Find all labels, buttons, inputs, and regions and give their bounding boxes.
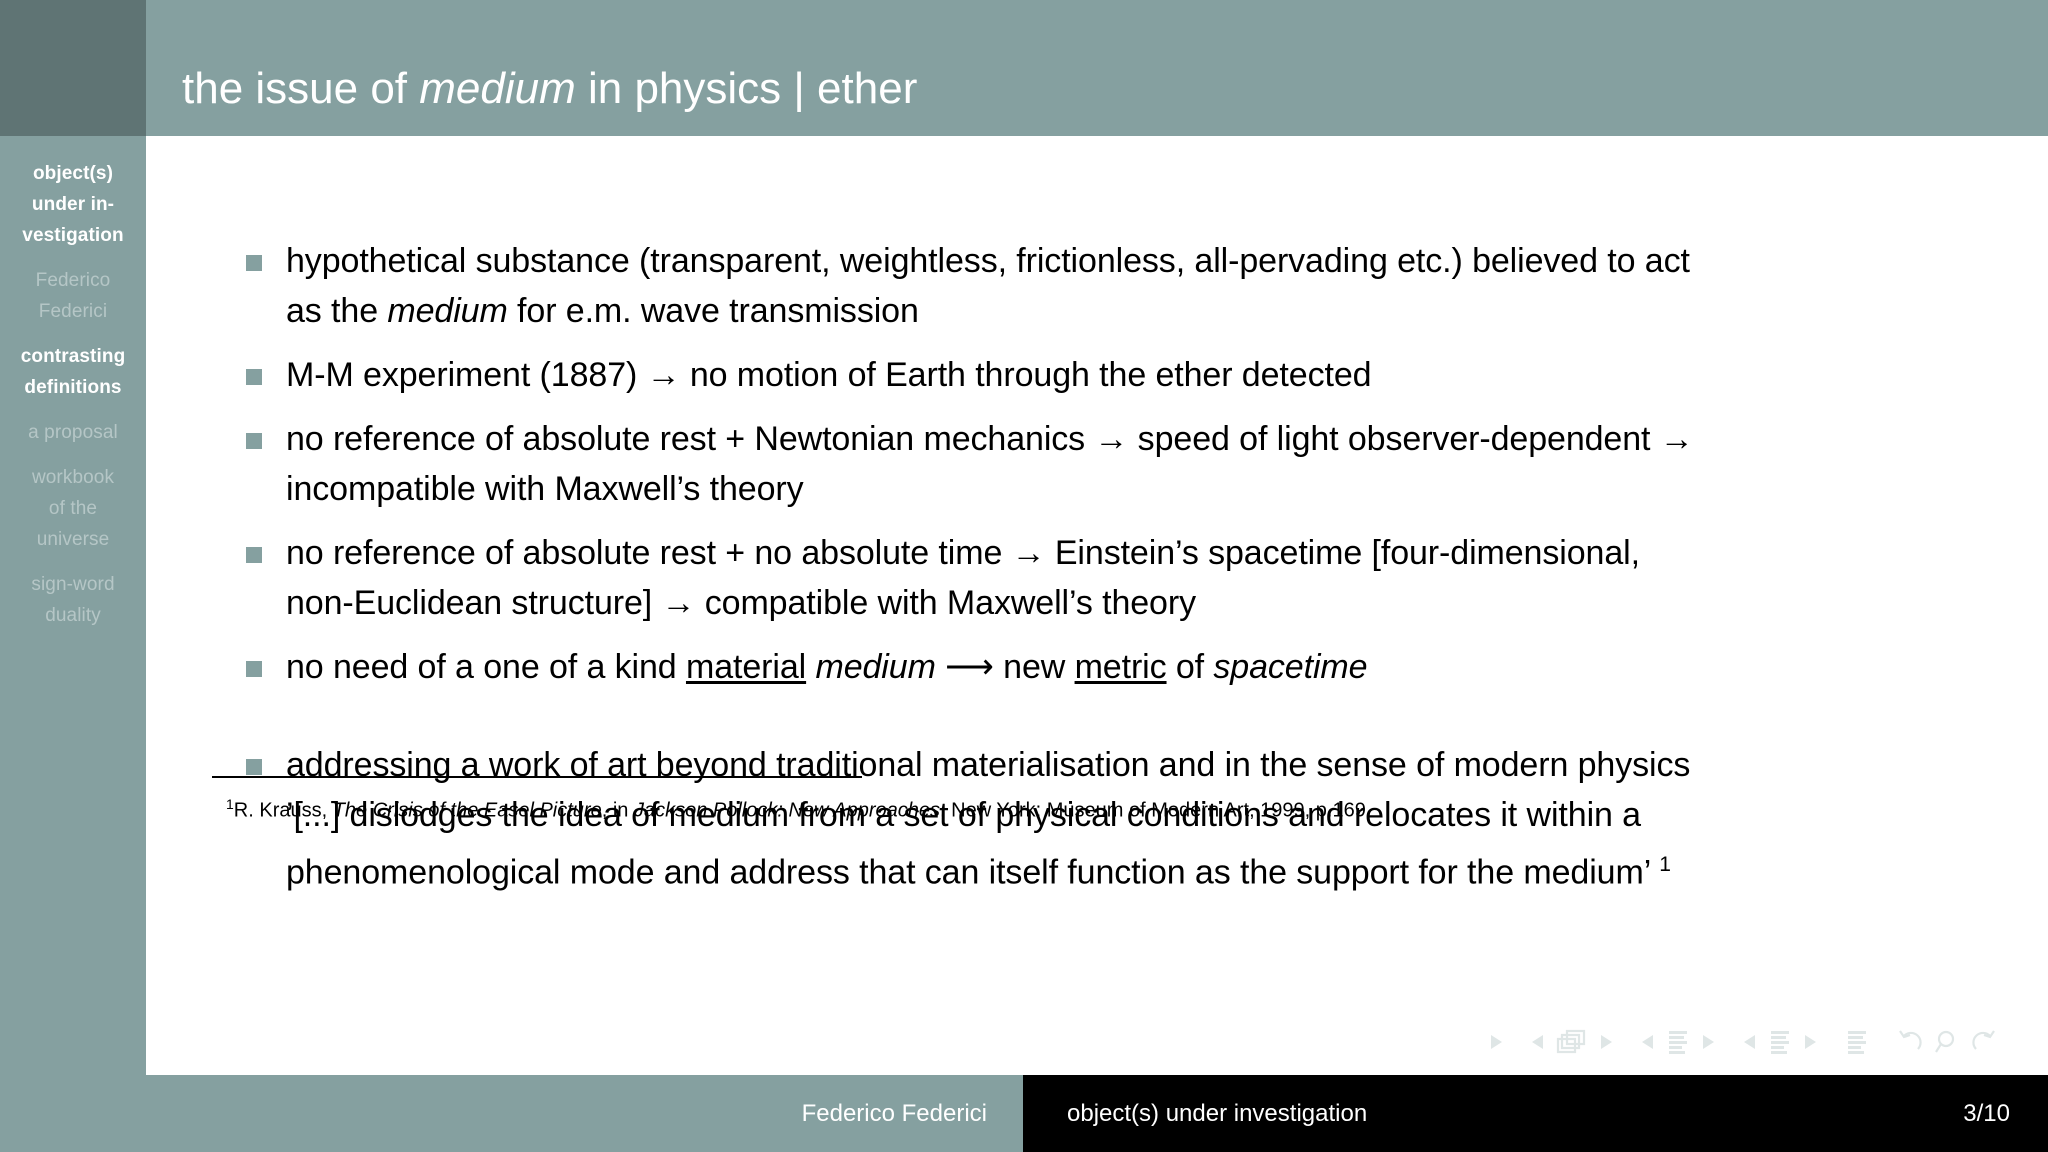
footer-section: object(s) under investigation — [1067, 1075, 1367, 1152]
sidebar-item-label: of the — [0, 493, 146, 524]
bullet-line: incompatible with Maxwell’s theory — [286, 470, 804, 508]
bullet-underline-metric: metric — [1075, 648, 1167, 686]
title-emphasis: medium — [419, 64, 576, 113]
footer-page-number: 3/10 — [1963, 1075, 2010, 1152]
sidebar-item-contrasting-definitions[interactable]: contrasting definitions — [0, 341, 146, 403]
sidebar-item-label: Federico — [0, 265, 146, 296]
list-item: hypothetical substance (transparent, wei… — [246, 236, 1976, 336]
footnote-divider — [212, 776, 862, 778]
sidebar-item-sign-word-duality[interactable]: sign-word duality — [0, 569, 146, 631]
sidebar-item-federico-federici[interactable]: Federico Federici — [0, 265, 146, 327]
sidebar-item-label: definitions — [0, 372, 146, 403]
list-item: no reference of absolute rest + Newtonia… — [246, 414, 1976, 514]
sidebar-header-block — [0, 0, 146, 136]
beamer-navigation-symbols — [1488, 1028, 2024, 1056]
sidebar-item-a-proposal[interactable]: a proposal — [0, 417, 146, 448]
frame-forward-icon[interactable] — [1598, 1033, 1614, 1051]
footnote: 1R. Krauss, The Crisis of the Easel Pict… — [226, 789, 1366, 826]
title-suffix: in physics | ether — [576, 64, 918, 113]
bullet-line: ⟶ new — [936, 648, 1075, 686]
presentation-navigation-group — [1844, 1028, 1870, 1056]
subsection-back-icon[interactable] — [1640, 1033, 1656, 1051]
bullet-line: for e.m. wave transmission — [508, 292, 919, 330]
footnote-text: R. Krauss, — [234, 800, 333, 822]
sidebar-item-label: duality — [0, 600, 146, 631]
footnote-text: , New York: Museum of Modern Art, 1999, … — [940, 800, 1366, 822]
bullet-marker-icon — [246, 369, 262, 385]
footer-author: Federico Federici — [802, 1075, 987, 1152]
sidebar-item-label: a proposal — [0, 417, 146, 448]
footer-author-block: Federico Federici — [0, 1075, 1023, 1152]
sidebar-item-objects-under-investigation[interactable]: object(s) under in- vestigation — [0, 158, 146, 251]
bullet-line: no reference of absolute rest + no absol… — [286, 534, 1640, 572]
section-back-icon[interactable] — [1742, 1033, 1758, 1051]
slide-title-bar: the issue of medium in physics | ether — [146, 0, 2048, 136]
forward-icon[interactable] — [1970, 1028, 1998, 1056]
sidebar-item-label: workbook — [0, 462, 146, 493]
bullet-marker-icon — [246, 433, 262, 449]
bullet-line: addressing a work of art beyond traditio… — [286, 746, 1690, 784]
list-item: no reference of absolute rest + no absol… — [246, 528, 1976, 628]
page-title: the issue of medium in physics | ether — [182, 64, 917, 114]
bullet-line: non-Euclidean structure] → compatible wi… — [286, 584, 1196, 622]
section-forward-icon[interactable] — [1802, 1033, 1818, 1051]
list-item: M-M experiment (1887) → no motion of Ear… — [246, 350, 1976, 400]
presentation-slide: object(s) under in- vestigation Federico… — [0, 0, 2048, 1152]
bullet-line: of — [1167, 648, 1214, 686]
history-navigation-group — [1896, 1028, 1998, 1056]
subsection-icon[interactable] — [1665, 1028, 1691, 1056]
sidebar-item-label: sign-word — [0, 569, 146, 600]
footnote-marker: 1 — [226, 796, 234, 812]
sidebar-item-label: vestigation — [0, 220, 146, 251]
section-navigation-group — [1742, 1028, 1818, 1056]
sidebar-item-label: under in- — [0, 189, 146, 220]
sidebar-item-label: Federici — [0, 296, 146, 327]
slide-content: hypothetical substance (transparent, wei… — [146, 136, 2048, 1075]
footnote-text: , in — [602, 800, 634, 822]
title-prefix: the issue of — [182, 64, 419, 113]
bullet-marker-icon — [246, 255, 262, 271]
bullet-line: hypothetical substance (transparent, wei… — [286, 242, 1690, 280]
subsection-navigation-group — [1640, 1028, 1716, 1056]
sidebar-item-label: universe — [0, 524, 146, 555]
frame-back-icon[interactable] — [1530, 1033, 1546, 1051]
sidebar-item-label: contrasting — [0, 341, 146, 372]
bullet-marker-icon — [246, 547, 262, 563]
list-item: no need of a one of a kind material medi… — [246, 642, 1976, 692]
bullet-emphasis-medium: medium — [815, 648, 935, 686]
sidebar-item-workbook-of-the-universe[interactable]: workbook of the universe — [0, 462, 146, 555]
bullet-emphasis: medium — [387, 292, 507, 330]
frames-icon[interactable] — [1555, 1028, 1589, 1056]
presentation-icon[interactable] — [1844, 1028, 1870, 1056]
footnote-title-2: Jackson Pollock: New Approaches — [634, 800, 940, 822]
search-icon[interactable] — [1933, 1028, 1961, 1056]
slide-navigation-group — [1488, 1033, 1504, 1051]
bullet-line: no need of a one of a kind — [286, 648, 686, 686]
sidebar-navigation: object(s) under in- vestigation Federico… — [0, 136, 146, 631]
footnote-reference[interactable]: 1 — [1659, 853, 1671, 876]
bullet-marker-icon — [246, 661, 262, 677]
frame-navigation-group — [1530, 1028, 1614, 1056]
bullet-line: M-M experiment (1887) → no motion of Ear… — [286, 356, 1371, 394]
slide-forward-icon[interactable] — [1488, 1033, 1504, 1051]
bullet-line: phenomenological mode and address that c… — [286, 853, 1650, 891]
footnote-title-1: The Crisis of the Easel Picture — [333, 800, 602, 822]
sidebar: object(s) under in- vestigation Federico… — [0, 0, 146, 1075]
slide-footer: Federico Federici object(s) under invest… — [0, 1075, 2048, 1152]
subsection-forward-icon[interactable] — [1700, 1033, 1716, 1051]
bullet-line: as the — [286, 292, 387, 330]
bullet-line: no reference of absolute rest + Newtonia… — [286, 420, 1694, 458]
bullet-underline-material: material — [686, 648, 806, 686]
section-icon[interactable] — [1767, 1028, 1793, 1056]
bullet-marker-icon — [246, 759, 262, 775]
sidebar-item-label: object(s) — [0, 158, 146, 189]
bullet-emphasis-spacetime: spacetime — [1213, 648, 1367, 686]
back-icon[interactable] — [1896, 1028, 1924, 1056]
